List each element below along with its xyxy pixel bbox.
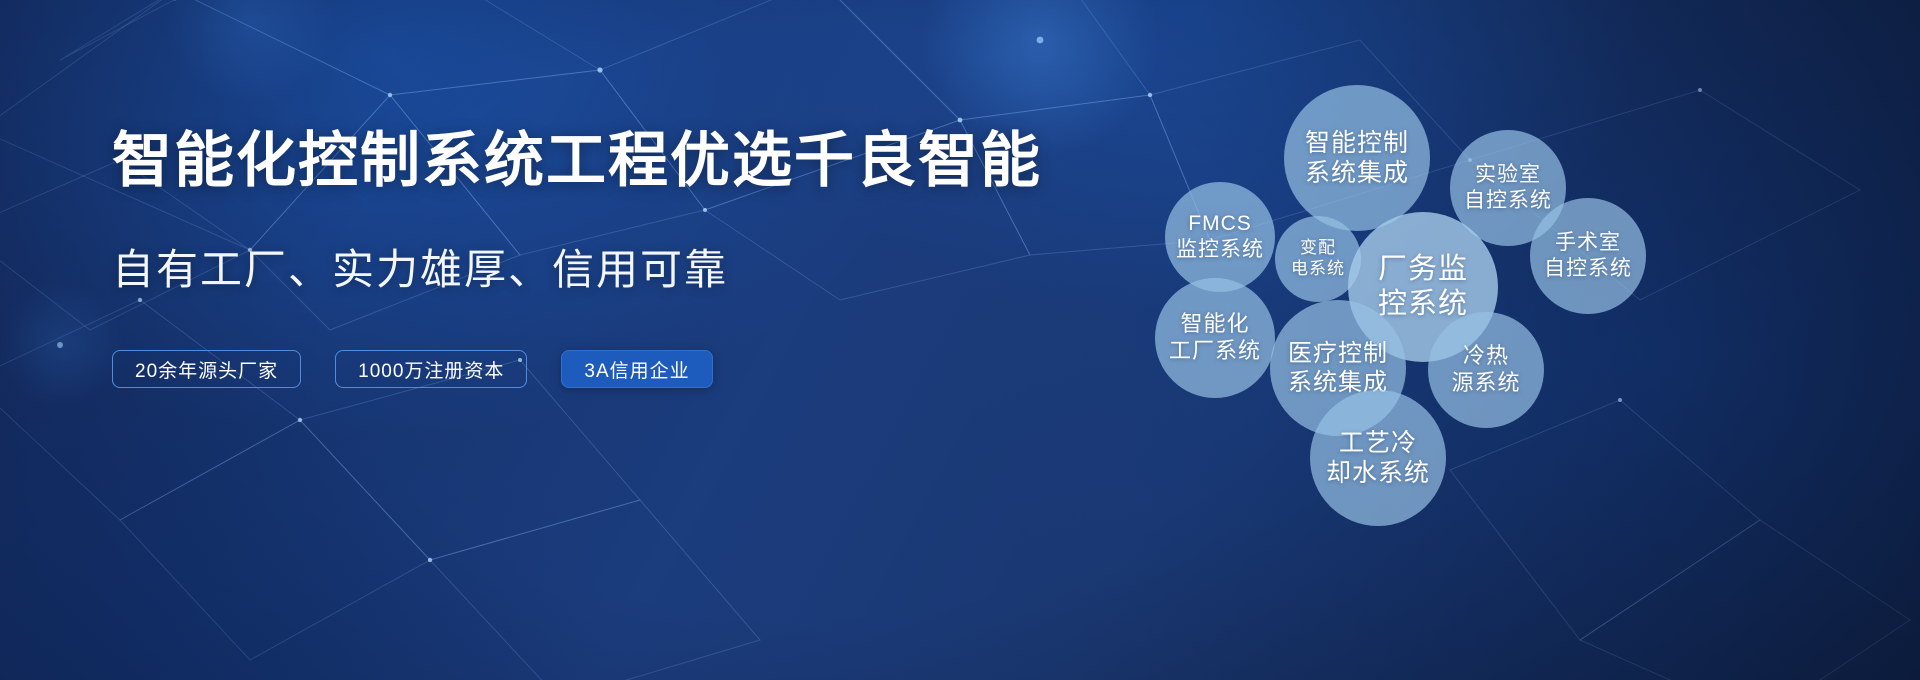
bubble-label-line: 智能控制 (1305, 128, 1409, 159)
bubble-label-line: FMCS (1188, 211, 1252, 237)
bubble-label-line: 源系统 (1451, 370, 1520, 397)
bubble-label-line: 医疗控制 (1288, 339, 1388, 368)
bubble-label-line: 厂务监 (1378, 252, 1468, 287)
bubble-label-line: 工艺冷 (1339, 428, 1417, 459)
page-title: 智能化控制系统工程优选千良智能 (112, 128, 972, 194)
hero-banner: 智能化控制系统工程优选千良智能 自有工厂、实力雄厚、信用可靠 20余年源头厂家1… (0, 0, 1920, 680)
badge-2[interactable]: 1000万注册资本 (335, 350, 527, 388)
bubble-process-cooling-water-system[interactable]: 工艺冷却水系统 (1310, 390, 1446, 526)
bubble-label-line: 系统集成 (1305, 158, 1409, 189)
bubble-label-line: 手术室 (1555, 230, 1621, 256)
bubble-label-line: 控系统 (1378, 287, 1468, 322)
badge-3[interactable]: 3A信用企业 (561, 350, 712, 388)
bubble-label-line: 电系统 (1291, 259, 1345, 280)
bubble-fmcs-monitoring-system[interactable]: FMCS监控系统 (1165, 182, 1275, 292)
bubble-label-line: 自控系统 (1544, 256, 1632, 282)
bubble-label-line: 智能化 (1180, 311, 1249, 338)
bubble-intelligent-factory-system[interactable]: 智能化工厂系统 (1155, 278, 1275, 398)
badge-list: 20余年源头厂家1000万注册资本3A信用企业 (112, 350, 972, 388)
service-bubble-cluster: 智能控制系统集成实验室自控系统手术室自控系统FMCS监控系统变配电系统厂务监控系… (1150, 30, 1920, 650)
page-subtitle: 自有工厂、实力雄厚、信用可靠 (112, 246, 972, 294)
bubble-label-line: 自控系统 (1464, 188, 1552, 214)
bubble-label-line: 工厂系统 (1169, 338, 1261, 365)
bubble-label-line: 监控系统 (1176, 237, 1264, 263)
bubble-operating-room-automation-system[interactable]: 手术室自控系统 (1530, 198, 1646, 314)
bubble-label-line: 却水系统 (1326, 458, 1430, 489)
badge-1[interactable]: 20余年源头厂家 (112, 350, 301, 388)
bubble-intelligent-control-system-integration[interactable]: 智能控制系统集成 (1284, 85, 1430, 231)
bubble-label-line: 实验室 (1475, 162, 1541, 188)
bubble-label-line: 变配 (1300, 238, 1336, 259)
hero-copy: 智能化控制系统工程优选千良智能 自有工厂、实力雄厚、信用可靠 20余年源头厂家1… (112, 128, 972, 388)
bubble-cooling-heating-source-system[interactable]: 冷热源系统 (1428, 312, 1544, 428)
bubble-label-line: 冷热 (1463, 343, 1509, 370)
